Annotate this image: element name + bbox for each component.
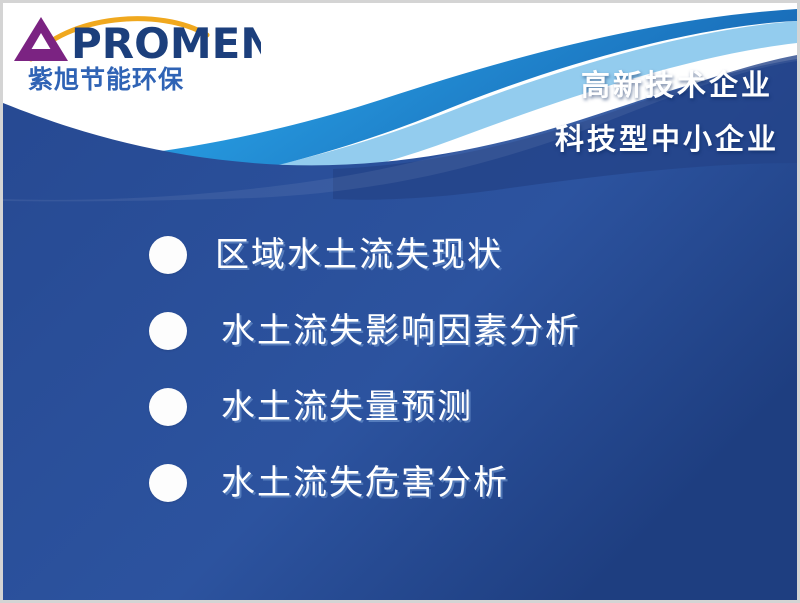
- agenda-list: 区域水土流失现状 水土流失影响因素分析 水土流失量预测 水土流失危害分析: [149, 217, 749, 521]
- list-item[interactable]: 水土流失量预测: [149, 369, 749, 445]
- logo-wordmark: PROMEN: [11, 9, 261, 67]
- header-line-2: 科技型中小企业: [555, 125, 779, 154]
- header-certification-text: 高新技术企业 科技型中小企业: [555, 71, 773, 154]
- logo-subtitle: 紫旭节能环保: [28, 67, 184, 92]
- bullet-dot-icon: [149, 388, 187, 426]
- presentation-slide: PROMEN 紫旭节能环保 高新技术企业 科技型中小企业 区域水土流失现状 水土…: [0, 0, 800, 603]
- bullet-dot-icon: [149, 236, 187, 274]
- list-item-label: 水土流失危害分析: [221, 466, 509, 500]
- logo-a-crossbar-icon: [27, 49, 56, 56]
- list-item[interactable]: 水土流失影响因素分析: [149, 293, 749, 369]
- list-item[interactable]: 区域水土流失现状: [149, 217, 749, 293]
- bullet-dot-icon: [149, 464, 187, 502]
- bullet-dot-icon: [149, 312, 187, 350]
- list-item-label: 区域水土流失现状: [215, 238, 503, 272]
- logo-mark-svg: PROMEN: [11, 9, 261, 67]
- list-item-label: 水土流失量预测: [221, 390, 473, 424]
- company-logo: PROMEN 紫旭节能环保: [11, 9, 261, 101]
- header-line-1: 高新技术企业: [555, 71, 773, 100]
- logo-wordmark-text: PROMEN: [71, 19, 261, 67]
- list-item-label: 水土流失影响因素分析: [221, 314, 581, 348]
- list-item[interactable]: 水土流失危害分析: [149, 445, 749, 521]
